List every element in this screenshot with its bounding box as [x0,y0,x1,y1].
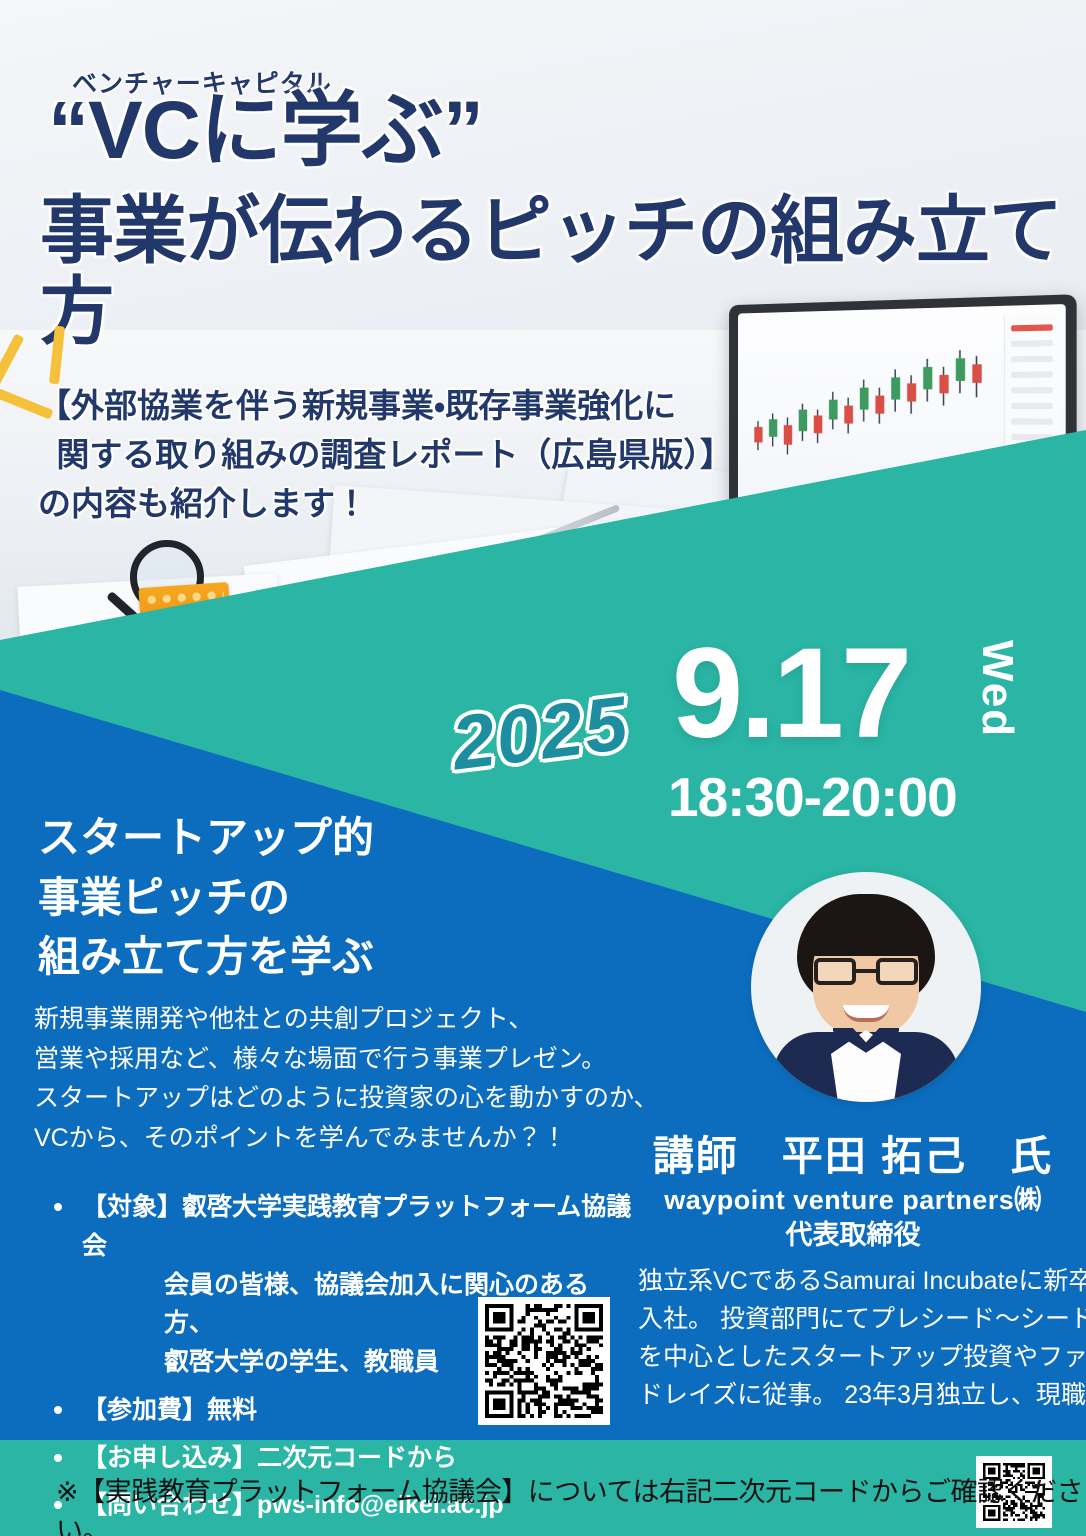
event-poster: ベンチャーキャピタル “VCに学ぶ” 事業が伝わるピッチの組み立て方 【外部協業… [0,0,1086,1536]
event-weekday: Wed [972,640,1022,738]
speaker-organization: waypoint venture partners㈱ [620,1178,1086,1217]
speaker-name: 講師 平田 拓己 氏 [620,1122,1086,1182]
speaker-bio-line: を中心としたスタートアップ投資やファン [638,1338,1078,1376]
speaker-avatar [751,872,981,1102]
subheading-line: の内容も紹介します！ [38,480,718,529]
registration-qr-code-icon[interactable] [478,1297,610,1425]
list-item-label: 【参加費】無料 [82,1396,257,1424]
speaker-role: 代表取締役 [620,1213,1086,1252]
description-line: VCから、そのポイントを学んでみませんか？！ [34,1119,634,1159]
description-line: 営業や採用など、様々な場面で行う事業プレゼン。 [34,1040,634,1080]
event-date: 9.17 [672,630,909,758]
list-item-label: 【お申し込み】二次元コードから [82,1444,457,1472]
speaker-bio-line: ドレイズに従事。 23年3月独立し、現職。 [638,1376,1078,1414]
subheading-block: 【外部協業を伴う新規事業・既存事業強化に 関する取り組みの調査レポート（広島県版… [38,382,718,528]
subheading-line: 関する取り組みの調査レポート（広島県版）】 [38,431,718,480]
speaker-bio-line: 独立系VCであるSamurai Incubateに新卒 [638,1262,1078,1300]
page-title-line1: “VCに学ぶ” [48,88,483,174]
description-line: スタートアップはどのように投資家の心を動かすのか、 [34,1079,634,1119]
speaker-bio: 独立系VCであるSamurai Incubateに新卒 入社。 投資部門にてプレ… [638,1262,1078,1414]
lead-line: 組み立て方を学ぶ [38,927,374,987]
event-time: 18:30-20:00 [668,765,957,829]
lead-line: スタートアップ的 [38,808,374,868]
lead-line: 事業ピッチの [38,868,374,928]
description-paragraph: 新規事業開発や他社との共創プロジェクト、 営業や採用など、様々な場面で行う事業プ… [34,1000,634,1158]
description-line: 新規事業開発や他社との共創プロジェクト、 [34,1000,634,1040]
page-title-line2: 事業が伝わるピッチの組み立て方 [40,190,1086,353]
list-item-label: 【対象】叡啓大学実践教育プラットフォーム協議会 [82,1193,631,1260]
lead-heading: スタートアップ的 事業ピッチの 組み立て方を学ぶ [38,808,374,987]
speaker-bio-line: 入社。 投資部門にてプレシード〜シード期 [638,1300,1078,1338]
subheading-line: 【外部協業を伴う新規事業・既存事業強化に [38,382,718,431]
footer-note: ※【実践教育プラットフォーム協議会】については右記二次元コードからご確認ください… [56,1470,1086,1536]
glasses-icon [814,958,918,985]
